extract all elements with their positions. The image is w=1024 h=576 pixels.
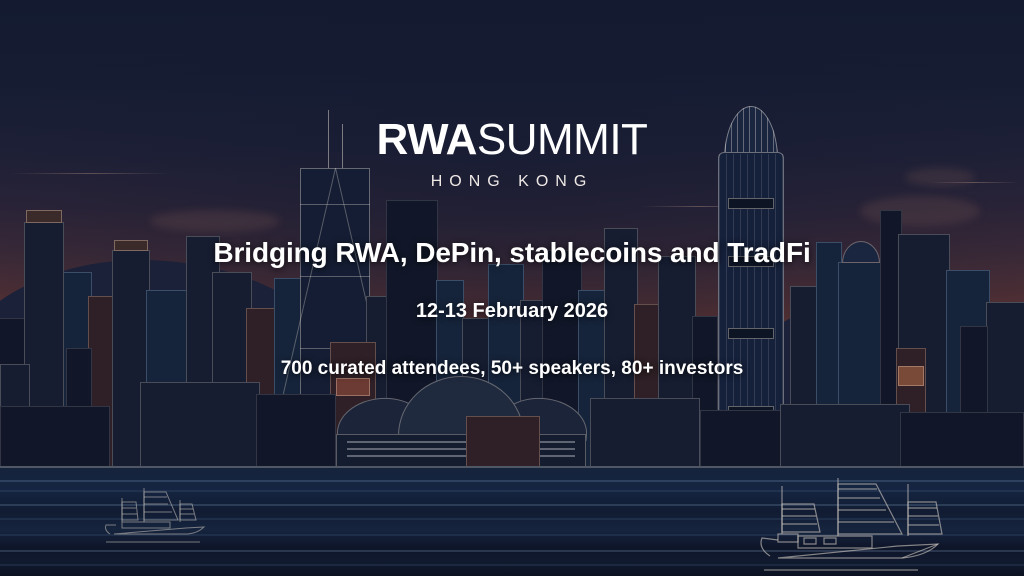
logo-bold-text: RWA [377,115,477,164]
building [590,398,700,468]
building [140,382,260,468]
event-banner: RWASUMMIT HONG KONG Bridging RWA, DePin,… [0,0,1024,576]
chinese-junk-boat-small [92,484,212,546]
logo-light-text: SUMMIT [477,115,648,164]
chinese-junk-boat-large [742,472,1002,576]
hero-date: 12-13 February 2026 [0,300,1024,323]
building [780,404,910,468]
shoreline [0,466,1024,468]
building [256,394,336,468]
hk-convention-and-exhibition-centre [336,376,586,468]
building [466,416,540,468]
logo-wordmark: RWASUMMIT [0,118,1024,162]
building [700,410,790,468]
logo-subtitle: HONG KONG [0,174,1024,190]
hero-headline: Bridging RWA, DePin, stablecoins and Tra… [0,237,1024,269]
building [900,412,1024,468]
building [0,406,110,468]
building-sign [26,210,62,223]
hero-stats: 700 curated attendees, 50+ speakers, 80+… [0,358,1024,380]
event-logo: RWASUMMIT HONG KONG [0,118,1024,190]
victoria-harbour-water [0,466,1024,576]
